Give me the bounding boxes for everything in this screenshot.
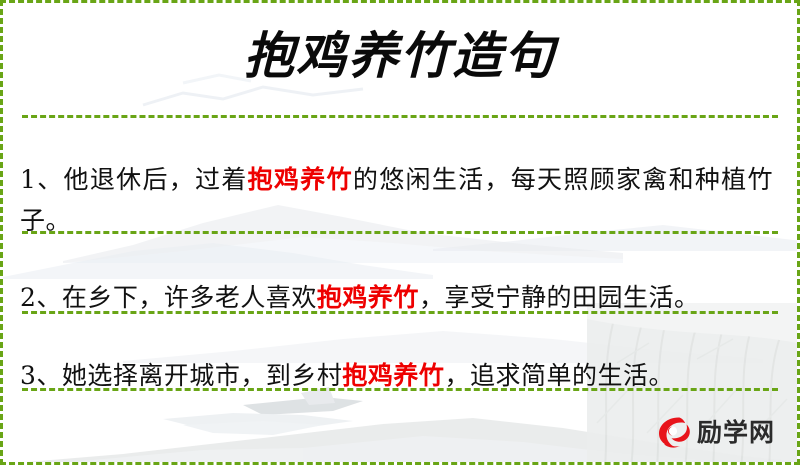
- poster-page: 抱鸡养竹造句 1、他退休后，过着抱鸡养竹的悠闲生活，每天照顾家禽和种植竹子。 2…: [0, 0, 800, 465]
- sentence-text-before-1: 他退休后，过着: [64, 165, 248, 194]
- site-logo[interactable]: 励学网: [655, 414, 775, 450]
- sentence-text-before-3: 她选择离开城市，到乡村: [62, 361, 343, 390]
- sentence-index-1: 1、: [20, 165, 64, 194]
- red-swirl-flame-icon: [655, 414, 691, 450]
- keyword-highlight-1: 抱鸡养竹: [248, 165, 353, 194]
- keyword-highlight-2: 抱鸡养竹: [317, 283, 419, 312]
- page-title: 抱鸡养竹造句: [3, 21, 797, 91]
- sentence-item-2: 2、在乡下，许多老人喜欢抱鸡养竹，享受宁静的田园生活。: [20, 277, 773, 318]
- sentence-index-2: 2、: [20, 283, 62, 312]
- sentence-item-3: 3、她选择离开城市，到乡村抱鸡养竹，追求简单的生活。: [20, 355, 773, 396]
- sentence-text-after-2: ，享受宁静的田园生活。: [419, 283, 700, 312]
- keyword-highlight-3: 抱鸡养竹: [342, 361, 444, 390]
- divider-1: [22, 115, 778, 118]
- sentence-text-after-3: ，追求简单的生活。: [444, 361, 674, 390]
- sentence-index-3: 3、: [20, 361, 62, 390]
- sentence-item-1: 1、他退休后，过着抱鸡养竹的悠闲生活，每天照顾家禽和种植竹子。: [20, 159, 773, 241]
- site-logo-text: 励学网: [697, 420, 775, 445]
- content-layer: 抱鸡养竹造句 1、他退休后，过着抱鸡养竹的悠闲生活，每天照顾家禽和种植竹子。 2…: [3, 3, 797, 462]
- sentence-text-before-2: 在乡下，许多老人喜欢: [62, 283, 317, 312]
